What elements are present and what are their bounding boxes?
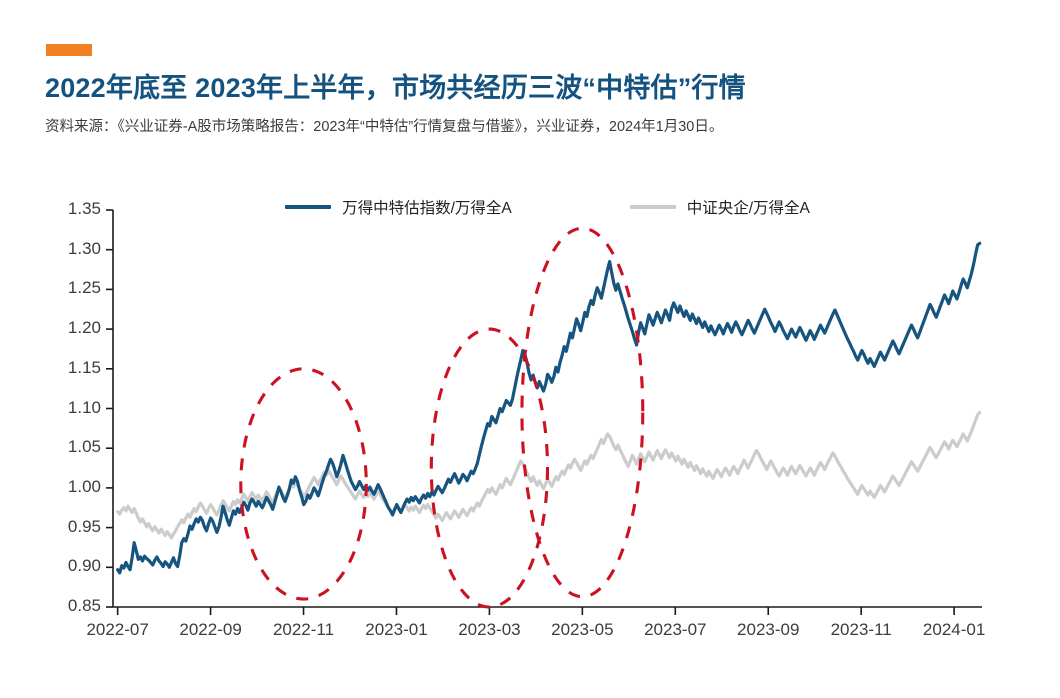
x-tick-label: 2022-11 [273, 620, 334, 640]
y-tick-label: 1.30 [39, 239, 101, 259]
y-tick-label: 1.00 [39, 477, 101, 497]
y-tick-label: 1.35 [39, 199, 101, 219]
y-tick-label: 1.25 [39, 278, 101, 298]
y-tick-label: 0.90 [39, 556, 101, 576]
x-tick-label: 2024-01 [923, 620, 985, 640]
series-line [118, 243, 980, 573]
x-tick-label: 2023-03 [458, 620, 520, 640]
x-tick-label: 2022-07 [86, 620, 148, 640]
x-tick-label: 2022-09 [179, 620, 241, 640]
y-tick-label: 1.15 [39, 358, 101, 378]
x-tick-label: 2023-11 [831, 620, 892, 640]
y-tick-label: 0.95 [39, 517, 101, 537]
y-tick-label: 1.20 [39, 318, 101, 338]
chart-page: 2022年底至 2023年上半年，市场共经历三波“中特估”行情 资料来源：《兴业… [0, 0, 1060, 698]
y-tick-label: 0.85 [39, 596, 101, 616]
x-tick-label: 2023-07 [644, 620, 706, 640]
x-tick-label: 2023-05 [551, 620, 613, 640]
x-tick-label: 2023-09 [737, 620, 799, 640]
annotation-ellipse [522, 228, 643, 596]
y-tick-label: 1.10 [39, 398, 101, 418]
line-chart-svg [0, 0, 1060, 698]
x-tick-label: 2023-01 [365, 620, 427, 640]
y-tick-label: 1.05 [39, 437, 101, 457]
chart-plot-area [0, 0, 1060, 698]
